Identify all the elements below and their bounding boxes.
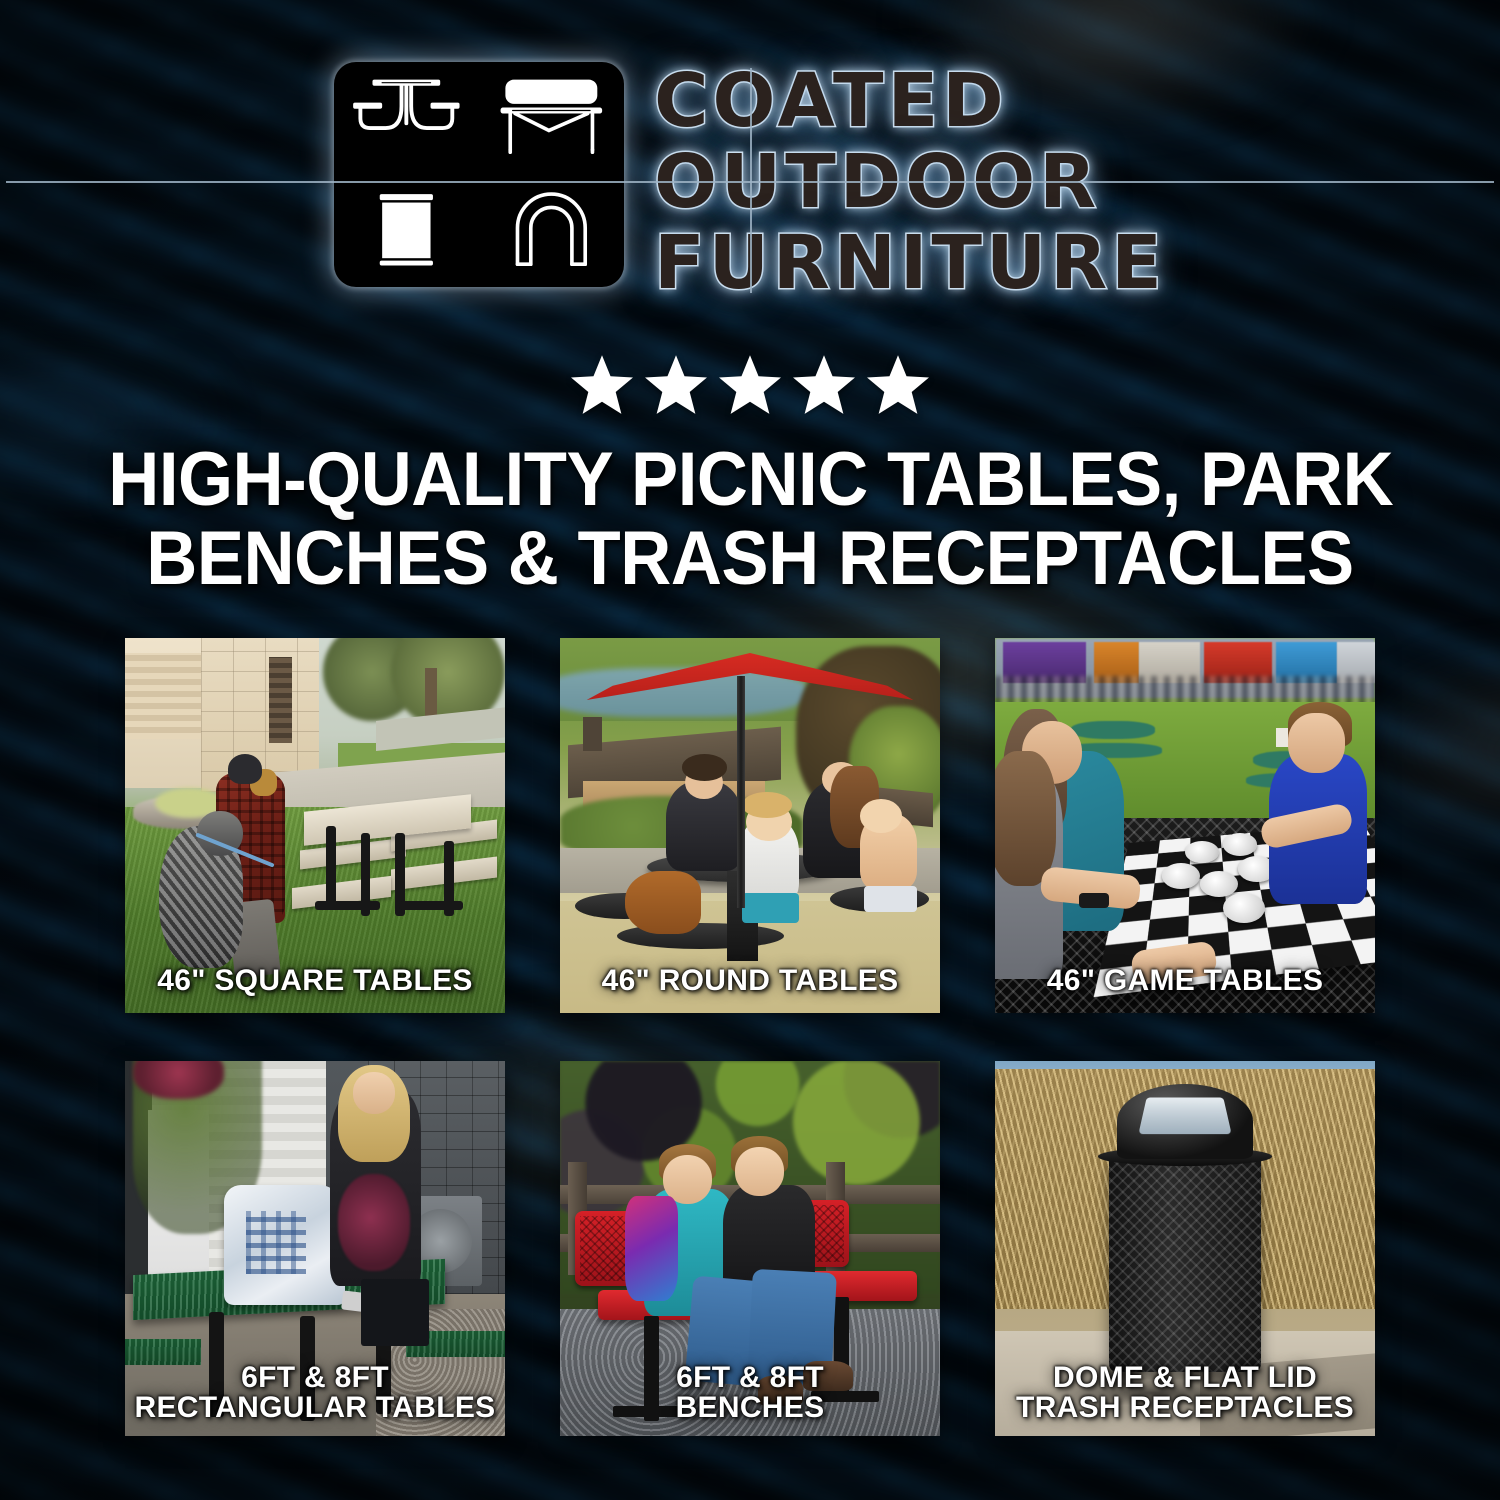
tile-caption-line-1: 46" ROUND TABLES (568, 966, 932, 997)
star-icon (719, 355, 781, 415)
product-tile-game-tables[interactable]: 46" GAME TABLES (995, 638, 1375, 1013)
game-table-photo (995, 638, 1375, 1013)
tile-caption: 46" GAME TABLES (995, 966, 1375, 997)
page-title: HIGH-QUALITY PICNIC TABLES, PARK BENCHES… (108, 440, 1391, 598)
headline-line-1: HIGH-QUALITY PICNIC TABLES, PARK (108, 440, 1391, 519)
product-tile-square-tables[interactable]: 46" SQUARE TABLES (125, 638, 505, 1013)
star-icon (645, 355, 707, 415)
tile-caption-line-1: 46" SQUARE TABLES (133, 966, 497, 997)
tile-caption-line-2: RECTANGULAR TABLES (133, 1393, 497, 1424)
picnic-table-icon (334, 62, 479, 175)
tile-caption-line-2: TRASH RECEPTACLES (1003, 1393, 1367, 1424)
product-tile-round-tables[interactable]: 46" ROUND TABLES (560, 638, 940, 1013)
tile-caption-line-1: 6FT & 8FT (568, 1363, 932, 1394)
tile-caption: 46" ROUND TABLES (560, 966, 940, 997)
product-tile-rectangular-tables[interactable]: 6FT & 8FT RECTANGULAR TABLES (125, 1061, 505, 1436)
star-icon (571, 355, 633, 415)
tile-caption-line-1: DOME & FLAT LID (1003, 1363, 1367, 1394)
tile-caption: DOME & FLAT LID TRASH RECEPTACLES (995, 1363, 1375, 1424)
brand-name-line-1: COATED (654, 66, 1166, 137)
headline-line-2: BENCHES & TRASH RECEPTACLES (108, 519, 1391, 598)
round-picnic-table-photo (560, 638, 940, 1013)
park-bench-icon (479, 62, 624, 175)
flat-lid-trash-can-icon (334, 175, 479, 288)
product-tile-benches[interactable]: 6FT & 8FT BENCHES (560, 1061, 940, 1436)
star-icon (867, 355, 929, 415)
brand-logo[interactable]: COATED OUTDOOR FURNITURE (0, 62, 1500, 299)
square-picnic-table-photo (125, 638, 505, 1013)
star-rating (0, 355, 1500, 415)
tile-caption-line-1: 6FT & 8FT (133, 1363, 497, 1394)
dome-arch-icon (479, 175, 624, 288)
tile-caption: 46" SQUARE TABLES (125, 966, 505, 997)
promo-banner: COATED OUTDOOR FURNITURE HIGH-QUALITY PI… (0, 0, 1500, 1500)
product-category-grid: 46" SQUARE TABLES (125, 638, 1380, 1436)
tile-caption-line-2: BENCHES (568, 1393, 932, 1424)
tile-caption-line-1: 46" GAME TABLES (1003, 966, 1367, 997)
product-tile-trash-receptacles[interactable]: DOME & FLAT LID TRASH RECEPTACLES (995, 1061, 1375, 1436)
tile-caption: 6FT & 8FT BENCHES (560, 1363, 940, 1424)
brand-name-line-3: FURNITURE (654, 228, 1166, 299)
logo-divider-horizontal (334, 181, 624, 183)
tile-caption: 6FT & 8FT RECTANGULAR TABLES (125, 1363, 505, 1424)
star-icon (793, 355, 855, 415)
brand-name-line-2: OUTDOOR (654, 147, 1166, 218)
logo-icon-grid (334, 62, 624, 287)
